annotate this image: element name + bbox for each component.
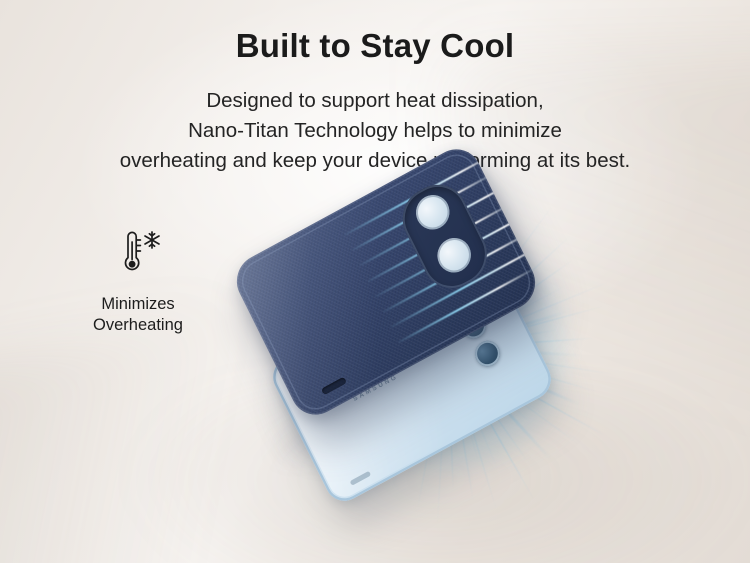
feature-callout-minimizes-overheating: Minimizes Overheating [72,228,204,336]
feature-label-line-1: Minimizes [72,294,204,315]
case-cutout-hole-2 [432,232,477,279]
feature-label-line-2: Overheating [72,315,204,336]
phone-camera-lens-3 [471,336,504,370]
case-cutout-hole-1 [410,189,455,236]
feature-callout-label: Minimizes Overheating [72,294,204,336]
thermometer-snowflake-icon [72,228,204,280]
promo-banner: Built to Stay Cool Designed to support h… [0,0,750,563]
